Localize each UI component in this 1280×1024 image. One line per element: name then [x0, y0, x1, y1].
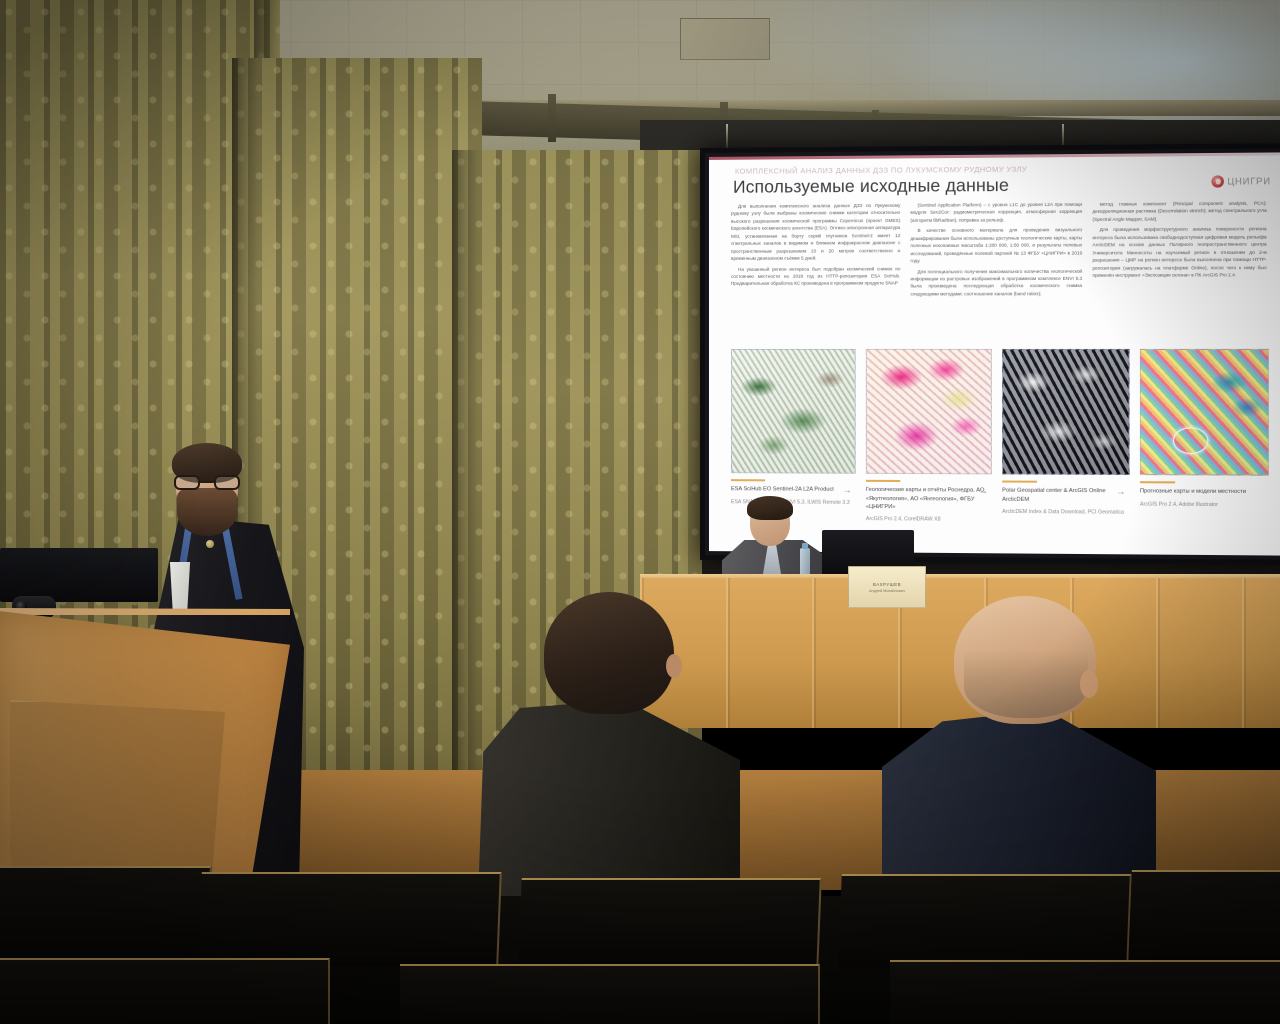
- caption-rule: [1140, 481, 1175, 484]
- paragraph: На указанный регион интереса был подобра…: [731, 265, 900, 288]
- circle-logo-icon: [1212, 175, 1224, 187]
- podium-monitor[interactable]: [0, 548, 158, 602]
- thumb-predictive-map: [1140, 349, 1269, 476]
- ceiling-access-panel: [680, 18, 770, 60]
- slide-column-middle: (Sentinel Application Platform) – с уров…: [910, 201, 1082, 301]
- caption-main: Геологические карты и отчёты Роснедра, А…: [866, 486, 992, 511]
- slide-title: Используемые исходные данные: [733, 175, 1009, 198]
- target-circle-annotation: [1173, 427, 1208, 454]
- caption-sub: ArcticDEM Index & Data Download, PCI Geo…: [1002, 508, 1129, 516]
- caption-3: Polar Geospatial center & ArcGIS Online …: [1002, 481, 1129, 526]
- audience-member-2: [872, 592, 1156, 892]
- caption-main: ESA SciHub EO Sentinel-2A L2A Product: [731, 486, 856, 495]
- caption-main: Polar Geospatial center & ArcGIS Online …: [1002, 487, 1129, 504]
- screen-hanger-left: [726, 124, 728, 150]
- eyeglasses-icon: [174, 475, 240, 490]
- paragraph: Для проведения морфоструктурного анализа…: [1092, 225, 1266, 279]
- caption-sub: ArcGIS Pro 2.4, CorelDRAW X8: [866, 516, 992, 524]
- audience-2-hair-fringe: [964, 650, 1088, 718]
- auditorium-seat-front[interactable]: [0, 958, 330, 1024]
- paragraph: В качестве основного материала для прове…: [910, 226, 1082, 264]
- auditorium-seat-front[interactable]: [400, 964, 820, 1024]
- paragraph: (Sentinel Application Platform) – с уров…: [910, 201, 1082, 225]
- audience-1-head: [544, 592, 674, 714]
- presentation-slide: КОМПЛЕКСНЫЙ АНАЛИЗ ДАННЫХ ДЗЗ ПО ЛУКУМСК…: [709, 152, 1280, 555]
- caption-rule: [731, 479, 765, 482]
- slide-text-columns: Для выполнения комплексного анализа данн…: [731, 200, 1267, 302]
- arrow-right-icon: →: [979, 485, 988, 495]
- organization-logo: ЦНИГРИ: [1212, 175, 1271, 188]
- auditorium-seat-front[interactable]: [890, 960, 1280, 1024]
- caption-4: Прогнозные карты и модели местности ArcG…: [1140, 481, 1269, 526]
- paragraph: метод главных компонент (Principal compo…: [1092, 200, 1266, 224]
- podium-top-edge: [0, 608, 290, 615]
- auditorium-seat[interactable]: [838, 874, 1132, 968]
- thumb-arcticdem-hillshade: [1002, 349, 1129, 475]
- conference-photo-scene: КОМПЛЕКСНЫЙ АНАЛИЗ ДАННЫХ ДЗЗ ПО ЛУКУМСК…: [0, 0, 1280, 1024]
- ceiling-beam-hanger-left: [548, 94, 556, 142]
- caption-rule: [866, 480, 900, 483]
- slide-kicker-text: КОМПЛЕКСНЫЙ АНАЛИЗ ДАННЫХ ДЗЗ ПО ЛУКУМСК…: [735, 163, 1221, 176]
- slide-column-left: Для выполнения комплексного анализа данн…: [731, 202, 900, 301]
- placard-surname: ВАХРУШЕВ: [873, 582, 901, 587]
- audience-2-jacket: [882, 710, 1156, 900]
- auditorium-seat[interactable]: [198, 872, 502, 966]
- slide-accent-rule: [709, 152, 1280, 160]
- caption-rule: [1002, 481, 1037, 484]
- paragraph: Для потенциального получения максимально…: [910, 267, 1082, 298]
- presenter-lapel-pin: [206, 540, 214, 548]
- logo-label: ЦНИГРИ: [1227, 176, 1271, 187]
- arrow-right-icon: →: [1116, 486, 1125, 496]
- audience-2-ear: [1080, 670, 1098, 698]
- caption-2: Геологические карты и отчёты Роснедра, А…: [866, 480, 992, 524]
- paragraph: Для выполнения комплексного анализа данн…: [731, 202, 900, 263]
- audience-1-ear: [666, 654, 682, 678]
- auditorium-seat[interactable]: [518, 878, 822, 970]
- slide-column-right: метод главных компонент (Principal compo…: [1092, 200, 1266, 301]
- caption-main: Прогнозные карты и модели местности: [1140, 488, 1269, 497]
- thumb-satellite-image: [731, 349, 856, 474]
- audience-1-jacket: [478, 700, 740, 900]
- presenter-beard: [177, 488, 237, 536]
- slide-thumbnail-row: [731, 349, 1269, 476]
- auditorium-seat[interactable]: [1128, 870, 1280, 966]
- auditorium-seat[interactable]: [0, 866, 212, 962]
- caption-sub: ArcGIS Pro 2.4, Adobe Illustrator: [1140, 501, 1269, 509]
- arrow-right-icon: →: [843, 485, 852, 495]
- panelist-hair: [747, 496, 793, 520]
- thumb-geological-map: [866, 349, 992, 474]
- audience-member-1: [478, 592, 740, 892]
